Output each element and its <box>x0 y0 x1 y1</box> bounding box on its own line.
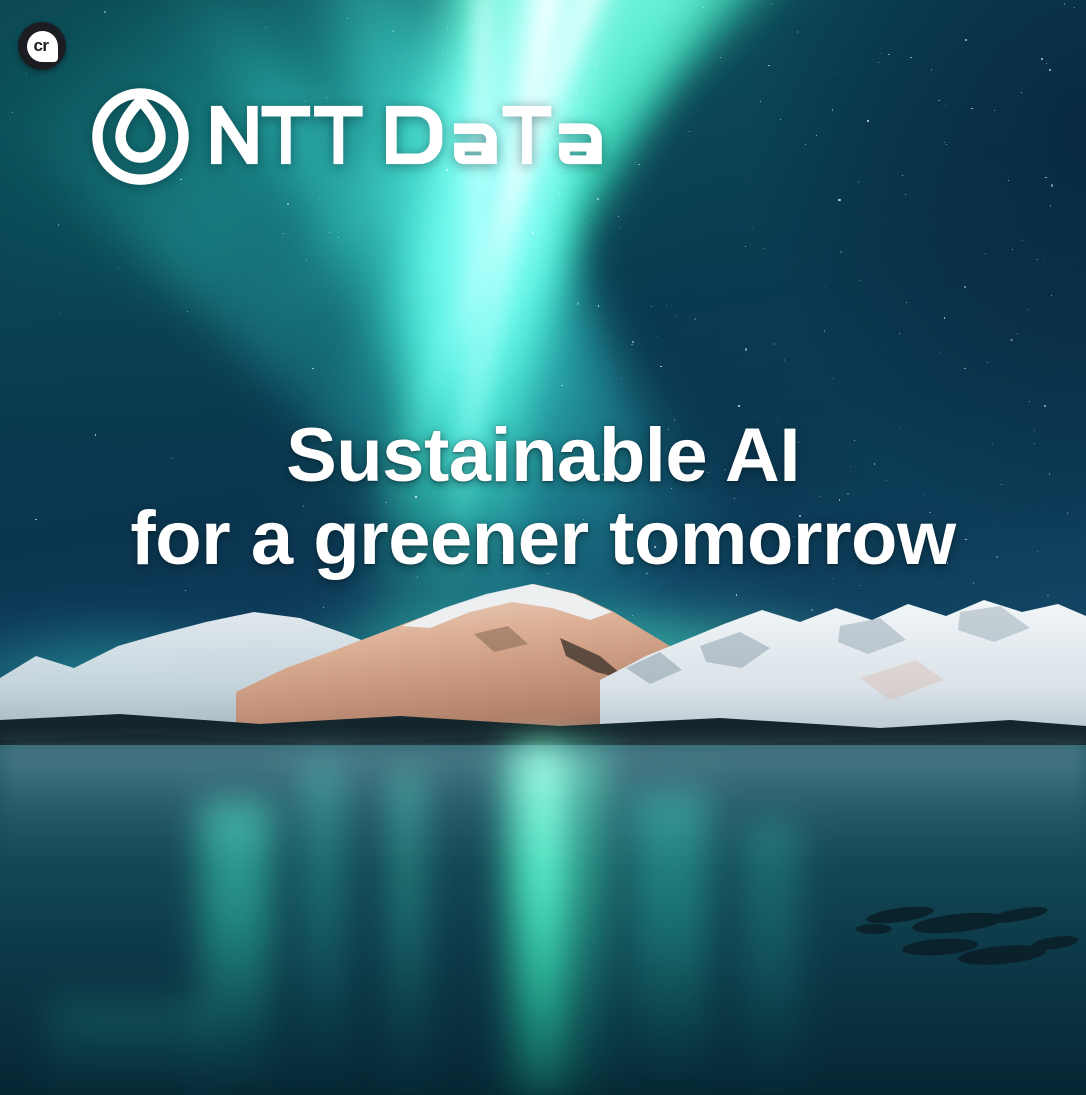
poster-canvas: Sustainable AI for a greener tomorrow cr <box>0 0 1086 1095</box>
ntt-data-logo <box>88 82 629 187</box>
cr-badge-bubble: cr <box>27 31 58 62</box>
ntt-data-wordmark-icon <box>211 100 629 170</box>
page-title: Sustainable AI for a greener tomorrow <box>0 414 1086 580</box>
cr-badge[interactable]: cr <box>18 22 66 70</box>
cr-badge-label: cr <box>33 37 48 54</box>
headline-line-2: for a greener tomorrow <box>0 497 1086 580</box>
ntt-circle-mark-icon <box>88 82 193 187</box>
fjord-water <box>0 745 1086 1095</box>
headline-line-1: Sustainable AI <box>0 414 1086 497</box>
